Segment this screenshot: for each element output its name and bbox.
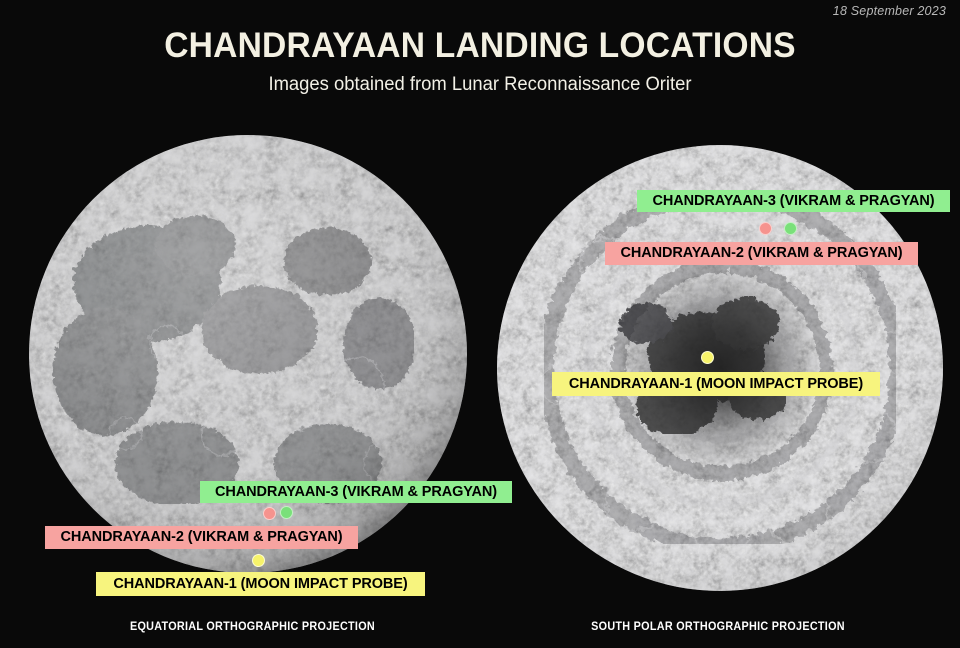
marker-chandrayaan3-left[interactable]	[280, 506, 293, 519]
date-stamp: 18 September 2023	[833, 4, 946, 18]
marker-chandrayaan3-right[interactable]	[784, 222, 797, 235]
page-title: CHANDRAYAAN LANDING LOCATIONS	[19, 26, 941, 66]
marker-chandrayaan1-left[interactable]	[252, 554, 265, 567]
marker-chandrayaan1-right[interactable]	[701, 351, 714, 364]
label-chandrayaan1-left: CHANDRAYAAN-1 (MOON IMPACT PROBE)	[96, 572, 425, 596]
label-chandrayaan1-right: CHANDRAYAAN-1 (MOON IMPACT PROBE)	[552, 372, 880, 396]
infographic-canvas: 18 September 2023 CHANDRAYAAN LANDING LO…	[0, 0, 960, 648]
marker-chandrayaan2-right[interactable]	[759, 222, 772, 235]
label-chandrayaan2-left: CHANDRAYAAN-2 (VIKRAM & PRAGYAN)	[45, 526, 358, 549]
caption-equatorial: EQUATORIAL ORTHOGRAPHIC PROJECTION	[72, 621, 434, 633]
marker-chandrayaan2-left[interactable]	[263, 507, 276, 520]
caption-south-polar: SOUTH POLAR ORTHOGRAPHIC PROJECTION	[532, 621, 904, 633]
label-chandrayaan3-left: CHANDRAYAAN-3 (VIKRAM & PRAGYAN)	[200, 481, 512, 503]
label-chandrayaan2-right: CHANDRAYAAN-2 (VIKRAM & PRAGYAN)	[605, 242, 918, 265]
page-subtitle: Images obtained from Lunar Reconnaissanc…	[14, 74, 945, 96]
label-chandrayaan3-right: CHANDRAYAAN-3 (VIKRAM & PRAGYAN)	[637, 190, 950, 212]
moon-image-equatorial	[26, 132, 470, 576]
